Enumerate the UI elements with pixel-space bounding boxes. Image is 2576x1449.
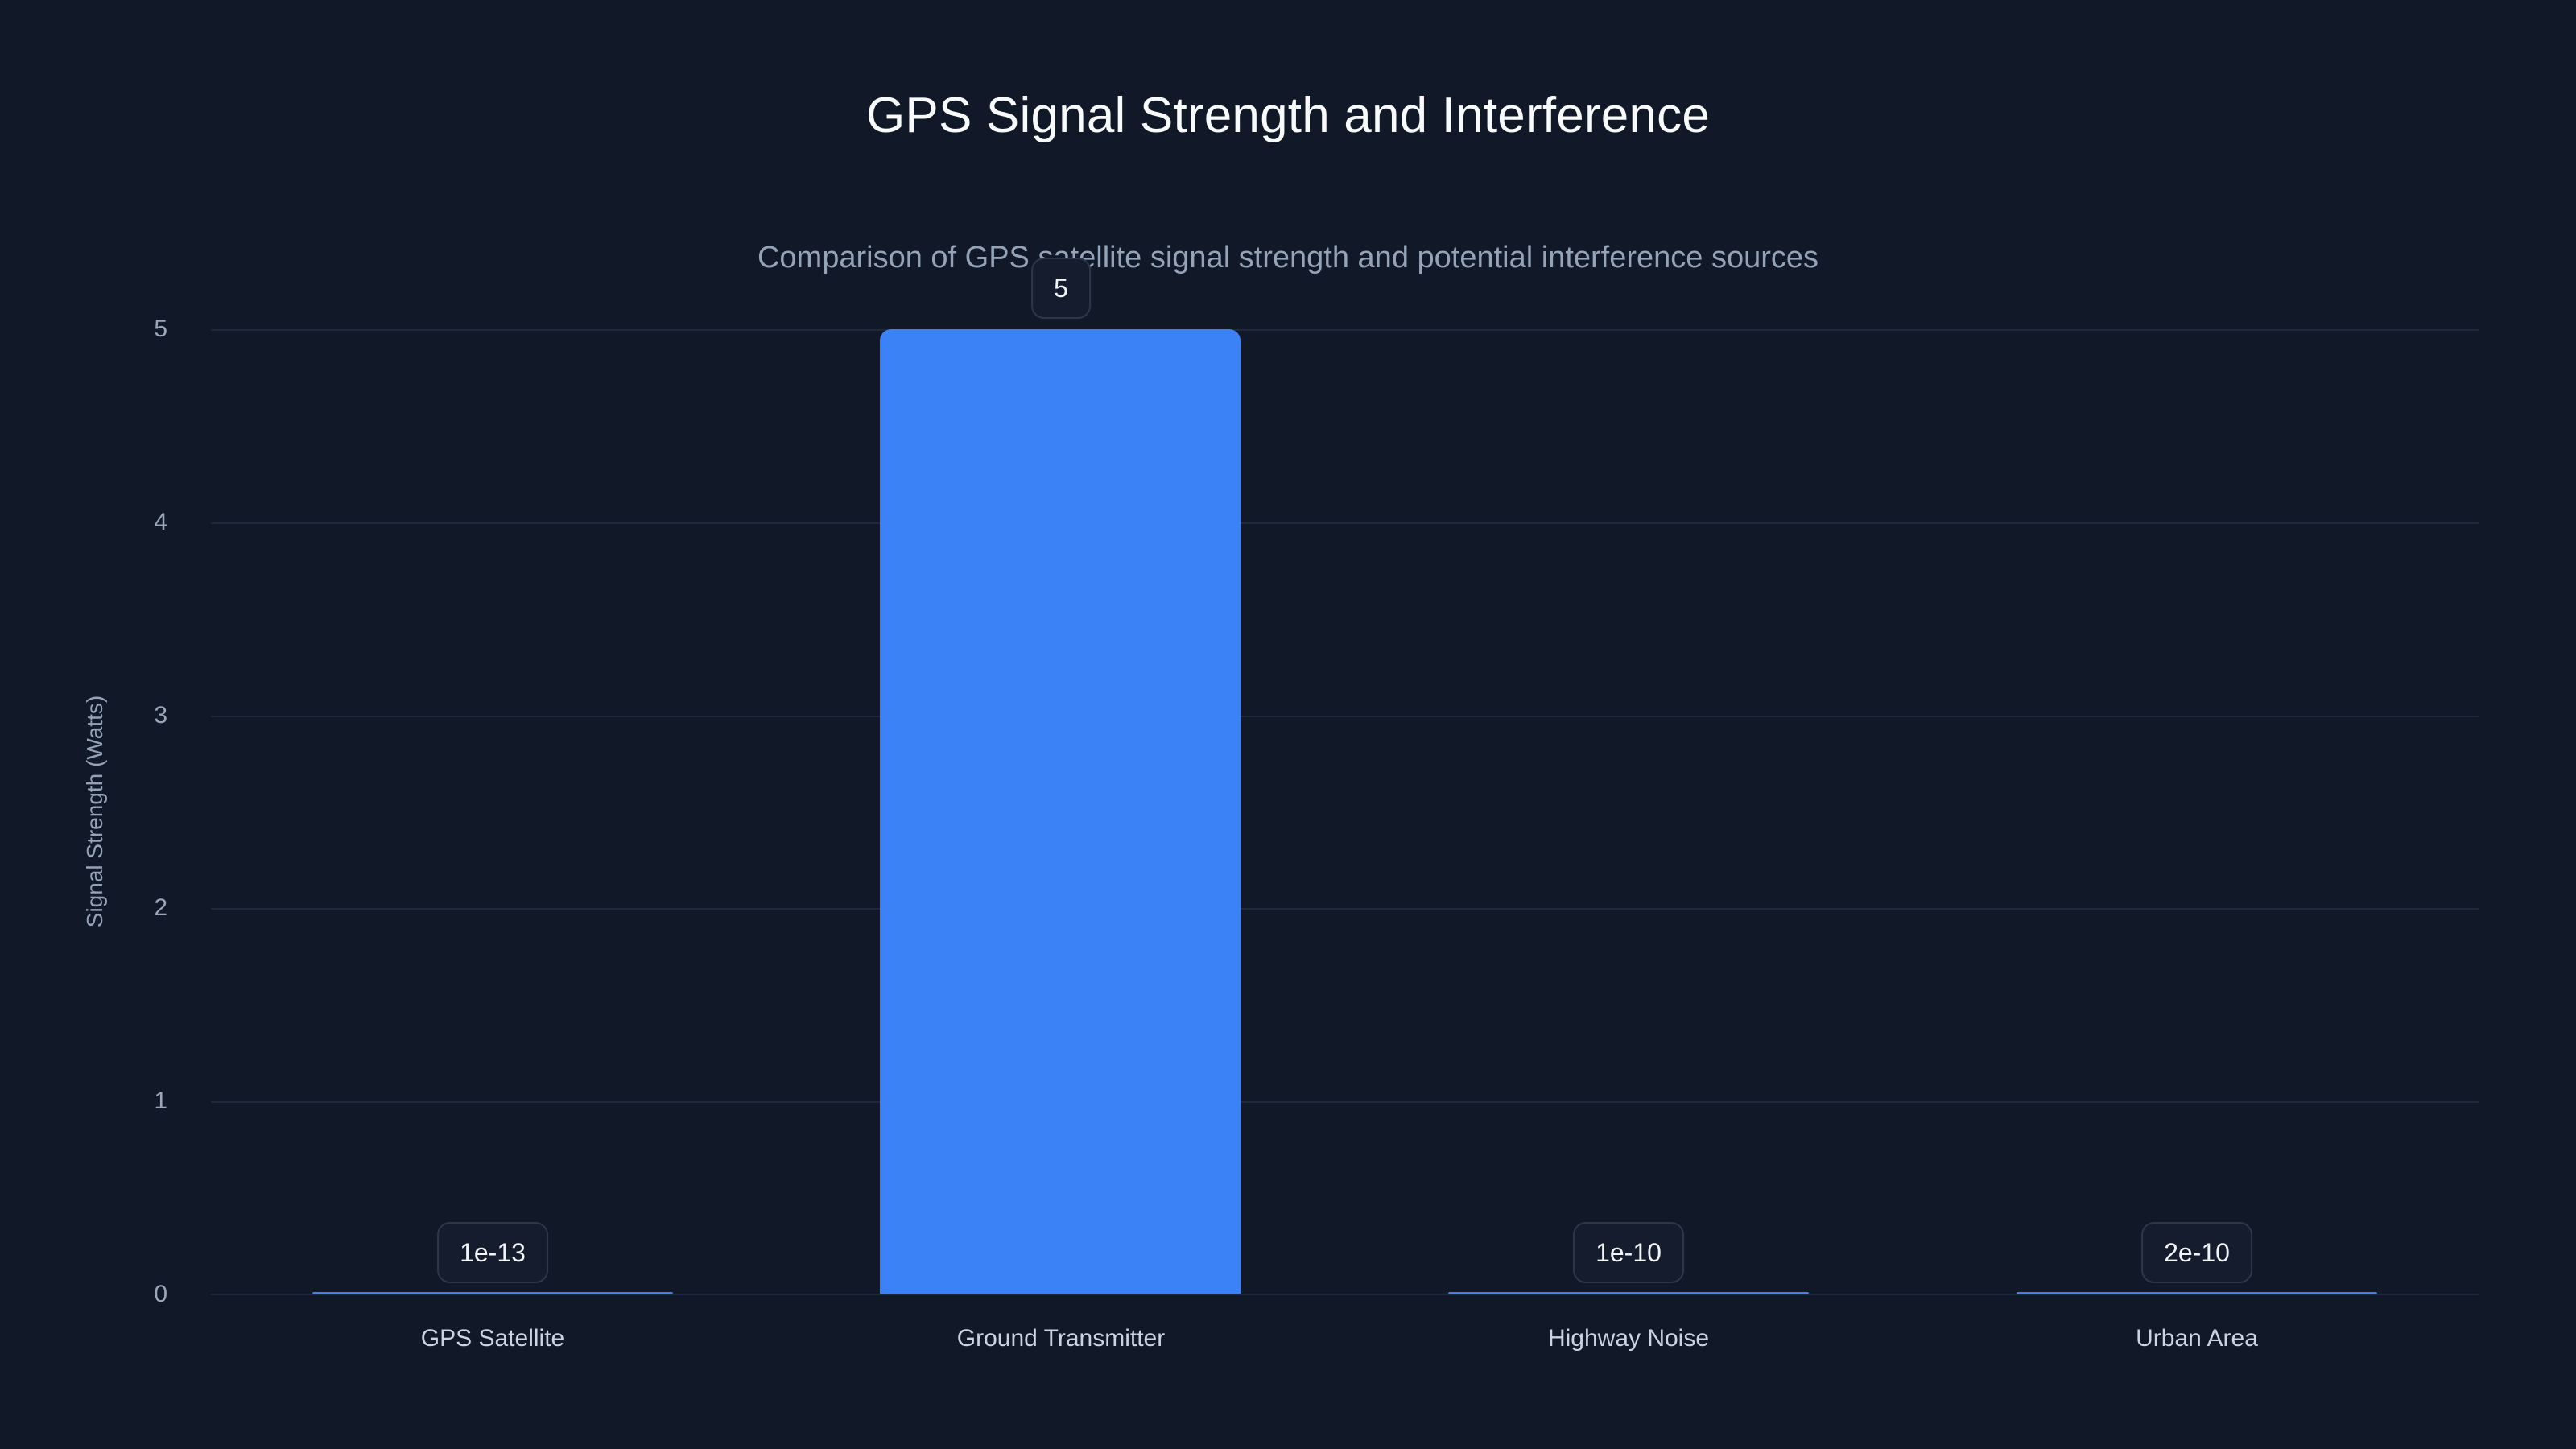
x-axis-baseline — [211, 1294, 2479, 1295]
value-badge-urban-area: 2e-10 — [2141, 1222, 2252, 1283]
x-axis-label-urban-area: Urban Area — [2136, 1327, 2258, 1351]
gridline-3 — [211, 716, 2479, 717]
bar-chart-container: GPS Signal Strength and Interference Com… — [0, 0, 2576, 1449]
bar-ground-transmitter[interactable] — [880, 329, 1241, 1294]
value-badge-gps-satellite: 1e-13 — [437, 1222, 548, 1283]
gridline-4 — [211, 522, 2479, 524]
chart-subtitle: Comparison of GPS satellite signal stren… — [0, 242, 2576, 275]
value-badge-ground-transmitter: 5 — [1031, 258, 1091, 319]
y-axis-tick-1: 1 — [103, 1089, 167, 1113]
y-axis-tick-0: 0 — [103, 1282, 167, 1307]
plot-area — [211, 329, 2479, 1294]
x-axis-label-ground-transmitter: Ground Transmitter — [957, 1327, 1165, 1351]
x-axis-label-highway-noise: Highway Noise — [1548, 1327, 1709, 1351]
gridline-5 — [211, 329, 2479, 331]
y-axis-tick-5: 5 — [103, 317, 167, 341]
gridline-2 — [211, 908, 2479, 910]
chart-title: GPS Signal Strength and Interference — [0, 89, 2576, 143]
y-axis-tick-4: 4 — [103, 510, 167, 535]
y-axis-tick-2: 2 — [103, 896, 167, 920]
gridline-1 — [211, 1101, 2479, 1103]
x-axis-label-gps-satellite: GPS Satellite — [421, 1327, 564, 1351]
value-badge-highway-noise: 1e-10 — [1573, 1222, 1684, 1283]
y-axis-title: Signal Strength (Watts) — [84, 642, 106, 980]
y-axis-tick-3: 3 — [103, 704, 167, 728]
